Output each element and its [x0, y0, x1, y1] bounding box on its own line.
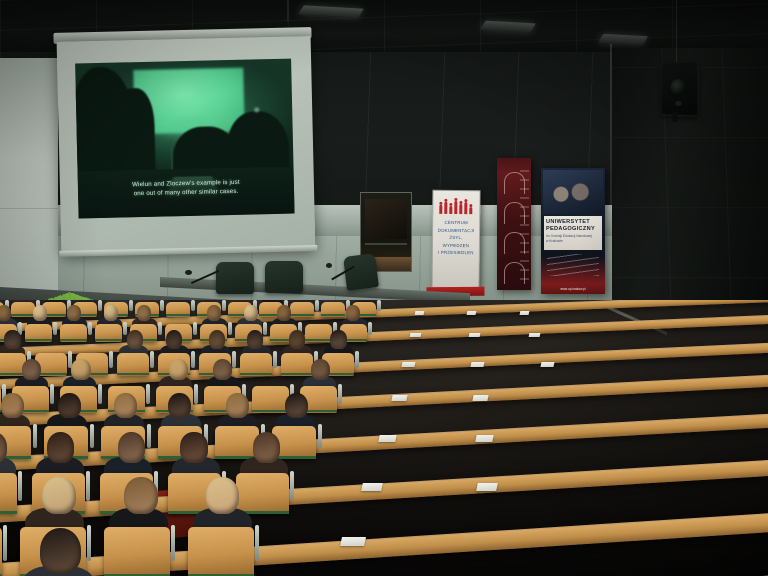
seat-green-trim — [281, 373, 313, 375]
paper-sheet — [391, 395, 407, 401]
projected-slide: Wielun and Zloczew's example is just one… — [75, 59, 294, 219]
seat-divider — [315, 300, 319, 311]
up-line-3: im. Komisji Edukacji Narodowej — [546, 234, 600, 239]
seat-divider — [232, 351, 236, 368]
seat-green-trim — [117, 373, 149, 375]
auditorium-seat — [104, 527, 170, 576]
centrum-line-5: I PRZESIEDLEN — [436, 249, 476, 257]
auditorium-seat — [188, 527, 254, 576]
seat-divider — [263, 322, 267, 335]
seat-divider — [194, 384, 198, 404]
seat-divider — [50, 384, 54, 404]
seat-green-trim — [252, 410, 289, 412]
seat-divider — [86, 471, 90, 501]
microphone-head — [185, 270, 192, 275]
microphone-head — [326, 263, 332, 268]
uniwersytet-pedagogiczny-banner: UNIWERSYTET PEDAGOGICZNY im. Komisji Edu… — [541, 168, 605, 294]
speaker-cable — [676, 0, 677, 64]
slide-light-spot — [254, 107, 259, 112]
audience-person-head — [114, 393, 137, 419]
audience-person-head — [124, 477, 158, 515]
screen-surface: Wielun and Zloczew's example is just one… — [57, 36, 316, 255]
paper-sheet — [528, 333, 540, 337]
seat-divider — [255, 525, 259, 561]
auditorium-seat — [252, 386, 289, 413]
wall-speaker-icon — [660, 61, 698, 116]
paper-sheet — [541, 362, 555, 367]
auditorium-seat — [0, 473, 17, 514]
banner-url: www.up.krakow.pl — [545, 287, 601, 291]
auditorium-seat — [236, 473, 289, 514]
seat-divider — [318, 424, 322, 448]
audience-person-head — [244, 305, 258, 321]
audience-person-head — [67, 305, 81, 321]
seat-divider — [338, 384, 342, 404]
seat-divider — [160, 300, 164, 311]
audience-person-head — [4, 330, 20, 348]
projection-screen: Wielun and Zloczew's example is just one… — [57, 36, 316, 255]
up-line-4: w Krakowie — [546, 239, 600, 244]
audience-person-head — [0, 305, 11, 321]
audience-person-head — [22, 359, 41, 381]
seat-green-trim — [11, 314, 35, 316]
paper-sheet — [469, 333, 481, 337]
seat-divider — [273, 351, 277, 368]
seat-divider — [228, 322, 232, 335]
audience-person-head — [330, 330, 346, 348]
podium-chair — [216, 262, 254, 294]
audience-person-head — [166, 330, 182, 348]
seat-green-trim — [0, 511, 17, 514]
seat-green-trim — [95, 339, 122, 341]
seat-divider — [53, 322, 57, 335]
seat-divider — [90, 424, 94, 448]
audience-person-head — [47, 432, 74, 462]
seat-divider — [88, 322, 92, 335]
seat-divider — [146, 384, 150, 404]
centrum-banner: CENTRUM DOKUMENTACJI ZSYL, WYPEDZEN I PR… — [431, 190, 480, 288]
paper-sheet — [414, 311, 424, 315]
seat-divider — [150, 351, 154, 368]
seat-divider — [158, 322, 162, 335]
audience-person-head — [58, 393, 81, 419]
seat-green-trim — [166, 314, 190, 316]
seat-divider — [33, 424, 37, 448]
red-arch-banner — [497, 158, 531, 290]
audience-person-head — [247, 330, 263, 348]
audience-person-head — [168, 393, 191, 419]
podium-chair — [343, 253, 379, 291]
seat-divider — [191, 300, 195, 311]
audience-seating-area — [0, 300, 768, 576]
audience-person-head — [33, 305, 47, 321]
seat-divider — [18, 471, 22, 501]
audience-person-head — [71, 359, 90, 381]
seat-green-trim — [290, 314, 314, 316]
slide-tree-silhouette — [110, 88, 156, 181]
paper-sheet — [401, 362, 415, 367]
audience-person-head — [209, 330, 225, 348]
audience-person-head — [226, 393, 249, 419]
audience-person-head — [104, 305, 118, 321]
seat-divider — [355, 351, 359, 368]
seat-green-trim — [321, 314, 345, 316]
seat-divider — [147, 424, 151, 448]
audience-person-head — [180, 432, 207, 462]
seat-divider — [191, 351, 195, 368]
audience-person-head — [137, 305, 151, 321]
crowd-figures-logo-icon — [439, 197, 473, 214]
audience-person-head — [207, 305, 221, 321]
seat-green-trim — [305, 339, 332, 341]
paper-sheet — [475, 435, 494, 442]
audience-person-head — [1, 393, 24, 419]
seat-divider — [87, 525, 91, 561]
auditorium-seat — [0, 527, 2, 576]
seat-divider — [3, 525, 7, 561]
banner-photo — [543, 170, 603, 214]
audience-person-head — [42, 477, 76, 515]
audience-person-head — [277, 305, 291, 321]
seat-green-trim — [240, 373, 272, 375]
seat-divider — [171, 525, 175, 561]
seat-divider — [290, 471, 294, 501]
audience-person-head — [285, 393, 308, 419]
lecture-hall-photo: Wielun and Zloczew's example is just one… — [0, 0, 768, 576]
audience-person-head — [40, 528, 82, 575]
audience-person-head — [253, 432, 280, 462]
paper-sheet — [520, 311, 530, 315]
paper-sheet — [340, 537, 366, 546]
paper-sheet — [378, 435, 397, 442]
speaker-mount — [672, 112, 678, 122]
audience-person-head — [346, 305, 360, 321]
paper-sheet — [476, 483, 498, 491]
seat-divider — [129, 300, 133, 311]
audience-person-head — [311, 359, 330, 381]
seat-divider — [109, 351, 113, 368]
seat-divider — [98, 384, 102, 404]
audience-person-head — [289, 330, 305, 348]
seat-green-trim — [60, 339, 87, 341]
audience-person-head — [206, 477, 240, 515]
audience-person-head — [118, 432, 145, 462]
seat-divider — [123, 322, 127, 335]
paper-sheet — [467, 311, 477, 315]
seat-divider — [193, 322, 197, 335]
audience-person-head — [213, 359, 232, 381]
podium-chair — [265, 261, 303, 293]
centrum-banner-text: CENTRUM DOKUMENTACJI ZSYL, WYPEDZEN I PR… — [436, 219, 476, 257]
seat-green-trim — [25, 339, 52, 341]
seat-divider — [368, 322, 372, 335]
wall-corner-edge — [610, 44, 612, 344]
up-line-2: PEDAGOGICZNY — [546, 226, 600, 234]
seat-divider — [377, 300, 381, 311]
seat-divider — [98, 300, 102, 311]
seat-divider — [222, 300, 226, 311]
banner-script-text — [547, 254, 599, 276]
paper-sheet — [471, 362, 485, 367]
ceiling-rod — [287, 0, 289, 22]
paper-sheet — [473, 395, 489, 401]
paper-sheet — [409, 333, 421, 337]
audience-person-head — [169, 359, 188, 381]
paper-sheet — [361, 483, 383, 491]
audience-person-head — [127, 330, 143, 348]
